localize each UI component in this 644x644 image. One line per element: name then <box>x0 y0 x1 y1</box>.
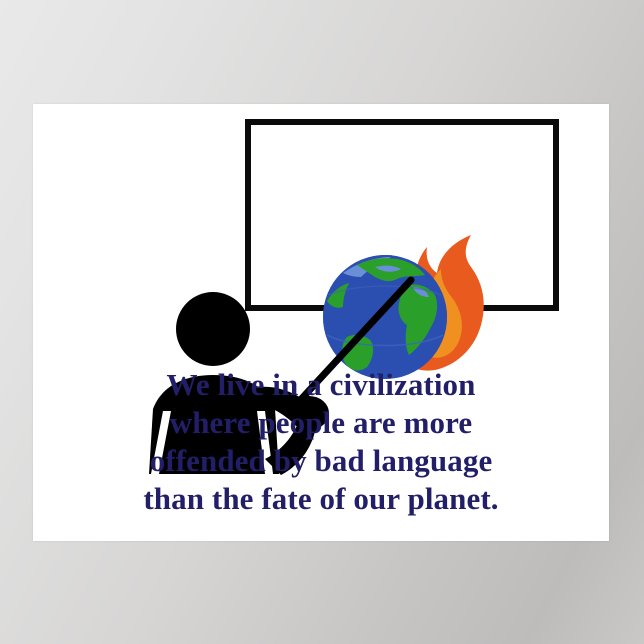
poster-caption: We live in a civilization where people a… <box>33 366 609 518</box>
caption-line-3: offended by bad language <box>33 442 609 480</box>
caption-line-2: where people are more <box>33 404 609 442</box>
caption-line-1: We live in a civilization <box>33 366 609 404</box>
poster-sheet: We live in a civilization where people a… <box>33 104 609 541</box>
poster-backdrop: We live in a civilization where people a… <box>0 0 644 644</box>
teacher-head <box>176 292 250 366</box>
caption-line-4: than the fate of our planet. <box>33 480 609 518</box>
